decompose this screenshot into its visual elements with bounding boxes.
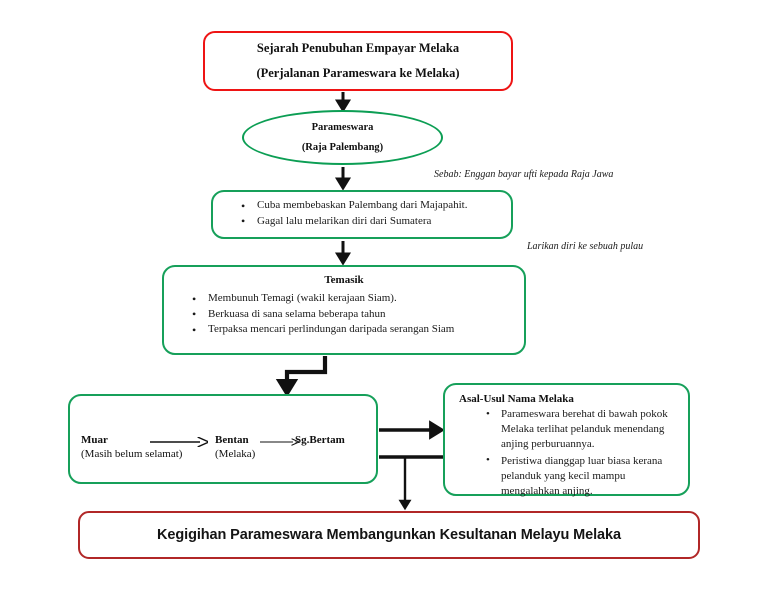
annotation-sebab: Sebab: Enggan bayar ufti kepada Raja Jaw… [434,169,613,180]
palembang-bullet-list: Cuba membebaskan Palembang dari Majapahi… [223,198,501,229]
annotation-larikan-diri: Larikan diri ke sebuah pulau [527,241,643,252]
temasik-heading: Temasik [174,274,514,286]
stage-sg-bertam: Sg.Bertam [295,433,345,447]
stage-muar-sub: (Masih belum selamat) [81,447,182,461]
title-box: Sejarah Penubuhan Empayar Melaka (Perjal… [203,31,513,91]
list-item: Terpaksa mencari perlindungan daripada s… [208,322,514,338]
list-item: Membunuh Temagi (wakil kerajaan Siam). [208,291,514,307]
temasik-box: Temasik Membunuh Temagi (wakil kerajaan … [162,265,526,355]
title-line-1: Sejarah Penubuhan Empayar Melaka [257,42,459,56]
title-line-2: (Perjalanan Parameswara ke Melaka) [256,67,459,81]
origin-heading: Asal-Usul Nama Melaka [459,393,678,405]
conclusion-box: Kegigihan Parameswara Membangunkan Kesul… [78,511,700,559]
flowchart-canvas: Sejarah Penubuhan Empayar Melaka (Perjal… [0,0,768,594]
oval-line-2: (Raja Palembang) [302,142,383,154]
stage-sg-bertam-name: Sg.Bertam [295,433,345,447]
list-item: Parameswara berehat di bawah pokok Melak… [501,407,678,453]
arrow-bentan-to-bertam-icon [260,437,300,447]
stage-bentan-name: Bentan [215,433,255,447]
list-item: Gagal lalu melarikan diri dari Sumatera [257,214,501,230]
stage-bentan: Bentan (Melaka) [215,433,255,461]
list-item: Peristiwa dianggap luar biasa kerana pel… [501,454,678,500]
journey-box: Muar (Masih belum selamat) Bentan (Melak… [68,394,378,484]
origin-bullet-list: Parameswara berehat di bawah pokok Melak… [455,407,678,499]
parameswara-oval: Parameswara (Raja Palembang) [242,110,443,165]
journey-stages: Muar (Masih belum selamat) Bentan (Melak… [80,421,372,463]
oval-line-1: Parameswara [312,122,374,134]
stage-bentan-sub: (Melaka) [215,447,255,461]
arrow-muar-to-bentan-icon [150,437,208,447]
conclusion-text: Kegigihan Parameswara Membangunkan Kesul… [157,527,621,543]
palembang-box: Cuba membebaskan Palembang dari Majapahi… [211,190,513,239]
temasik-bullet-list: Membunuh Temagi (wakil kerajaan Siam). B… [174,291,514,338]
origin-box: Asal-Usul Nama Melaka Parameswara bereha… [443,383,690,496]
connector-temasik-to-journey [287,356,325,388]
list-item: Cuba membebaskan Palembang dari Majapahi… [257,198,501,214]
list-item: Berkuasa di sana selama beberapa tahun [208,307,514,323]
